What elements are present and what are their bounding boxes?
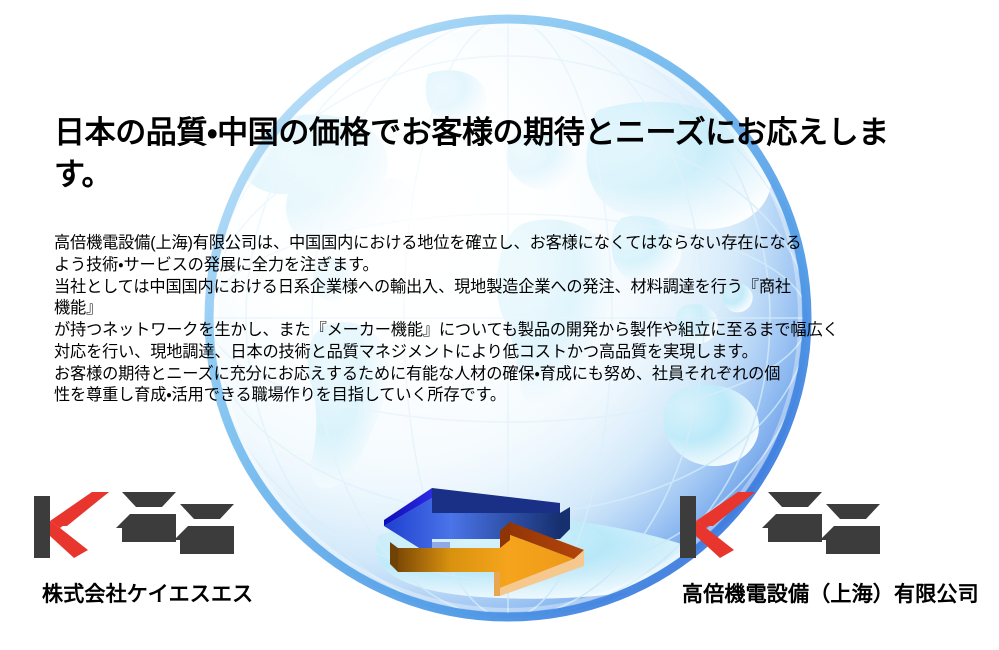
body-line: 対応を行い、現地調達、日本の技術と品質マネジメントにより低コストかつ高品質を実現…	[54, 342, 954, 364]
logo-block-right: 高倍機電設備（上海）有限公司	[662, 488, 984, 608]
body-line: 機能』	[54, 298, 954, 320]
body-line: 性を尊重し育成・活用できる職場作りを目指していく所存です。	[54, 385, 954, 407]
logo-caption-left: 株式会社ケイエスエス	[18, 578, 286, 608]
kss-logo-right	[662, 488, 984, 560]
kss-logo-icon	[30, 488, 260, 560]
body-line: よう技術・サービスの発展に全力を注ぎます。	[54, 255, 954, 277]
page-title: 日本の品質・中国の価格でお客様の期待とニーズにお応えします。	[54, 112, 944, 195]
kss-logo-left	[18, 488, 286, 560]
body-line: 当社としては中国国内における日系企業様への輸出入、現地製造企業への発注、材料調達…	[54, 277, 954, 299]
body-copy: 高倍機電設備(上海)有限公司は、中国国内における地位を確立し、お客様になくてはな…	[54, 233, 954, 407]
body-line: 高倍機電設備(上海)有限公司は、中国国内における地位を確立し、お客様になくてはな…	[54, 233, 954, 255]
body-line: が持つネットワークを生かし、また『メーカー機能』についても製品の開発から製作や組…	[54, 320, 954, 342]
body-line: お客様の期待とニーズに充分にお応えするために有能な人材の確保・育成にも努め、社員…	[54, 364, 954, 386]
slide-canvas: 日本の品質・中国の価格でお客様の期待とニーズにお応えします。 高倍機電設備(上海…	[0, 0, 999, 650]
logo-caption-right: 高倍機電設備（上海）有限公司	[662, 578, 984, 608]
kss-logo-icon	[676, 488, 906, 560]
logo-block-left: 株式会社ケイエスエス	[18, 488, 286, 608]
exchange-arrows	[384, 482, 614, 600]
